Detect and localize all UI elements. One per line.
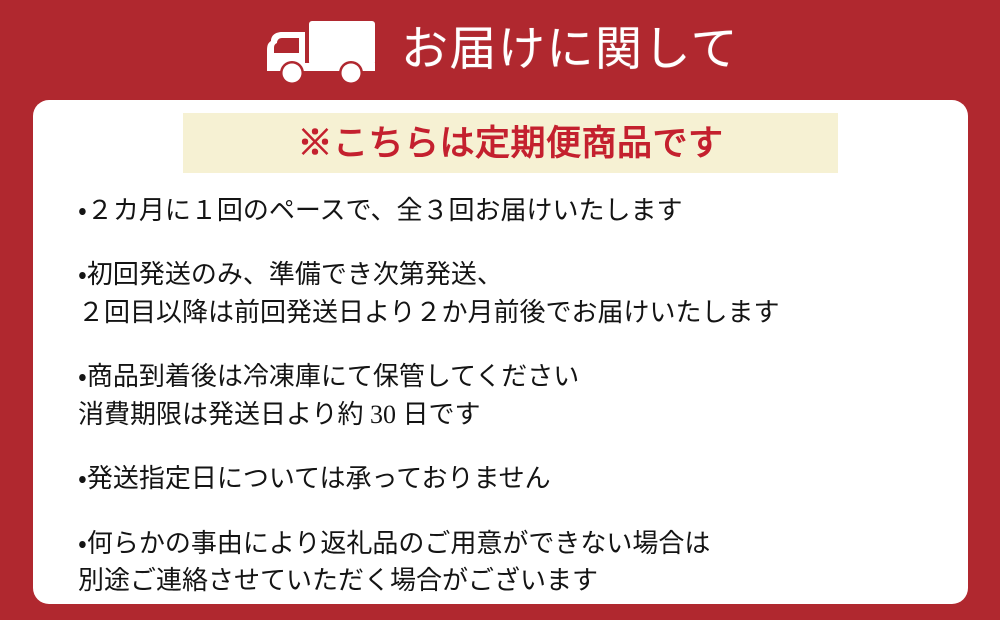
notice-item: ・商品到着後は冷凍庫にて保管してください 消費期限は発送日より約 30 日です xyxy=(78,358,938,433)
notice-item: ・何らかの事由により返礼品のご用意ができない場合は 別途ご連絡させていただく場合… xyxy=(78,525,938,600)
page-title: お届けに関して xyxy=(401,27,739,74)
notice-line: ・商品到着後は冷凍庫にて保管してください xyxy=(78,358,938,395)
subscription-banner-label: ※こちらは定期便商品です xyxy=(297,126,723,161)
notice-line: ２回目以降は前回発送日より２か月前後でお届けいたします xyxy=(78,294,938,331)
notice-line: ・何らかの事由により返礼品のご用意ができない場合は xyxy=(78,525,938,562)
delivery-notice-poster: お届けに関して ※こちらは定期便商品です ・２カ月に１回のペースで、全３回お届け… xyxy=(0,0,1000,620)
bottom-red-strip xyxy=(0,604,1000,620)
notice-line: ・発送指定日については承っておりません xyxy=(78,460,938,497)
notice-line: ・２カ月に１回のペースで、全３回お届けいたします xyxy=(78,192,938,229)
content-card: ※こちらは定期便商品です ・２カ月に１回のペースで、全３回お届けいたします ・初… xyxy=(33,100,968,604)
notice-line: ・初回発送のみ、準備でき次第発送、 xyxy=(78,256,938,293)
notice-item: ・２カ月に１回のペースで、全３回お届けいたします xyxy=(78,192,938,229)
delivery-truck-icon xyxy=(261,19,379,85)
notice-line: 別途ご連絡させていただく場合がございます xyxy=(78,562,938,599)
poster-header: お届けに関して xyxy=(0,0,1000,100)
notice-line: 消費期限は発送日より約 30 日です xyxy=(78,396,938,433)
subscription-banner: ※こちらは定期便商品です xyxy=(183,113,838,173)
notice-item: ・初回発送のみ、準備でき次第発送、 ２回目以降は前回発送日より２か月前後でお届け… xyxy=(78,256,938,331)
notice-list: ・２カ月に１回のペースで、全３回お届けいたします ・初回発送のみ、準備でき次第発… xyxy=(78,192,938,600)
notice-item: ・発送指定日については承っておりません xyxy=(78,460,938,497)
